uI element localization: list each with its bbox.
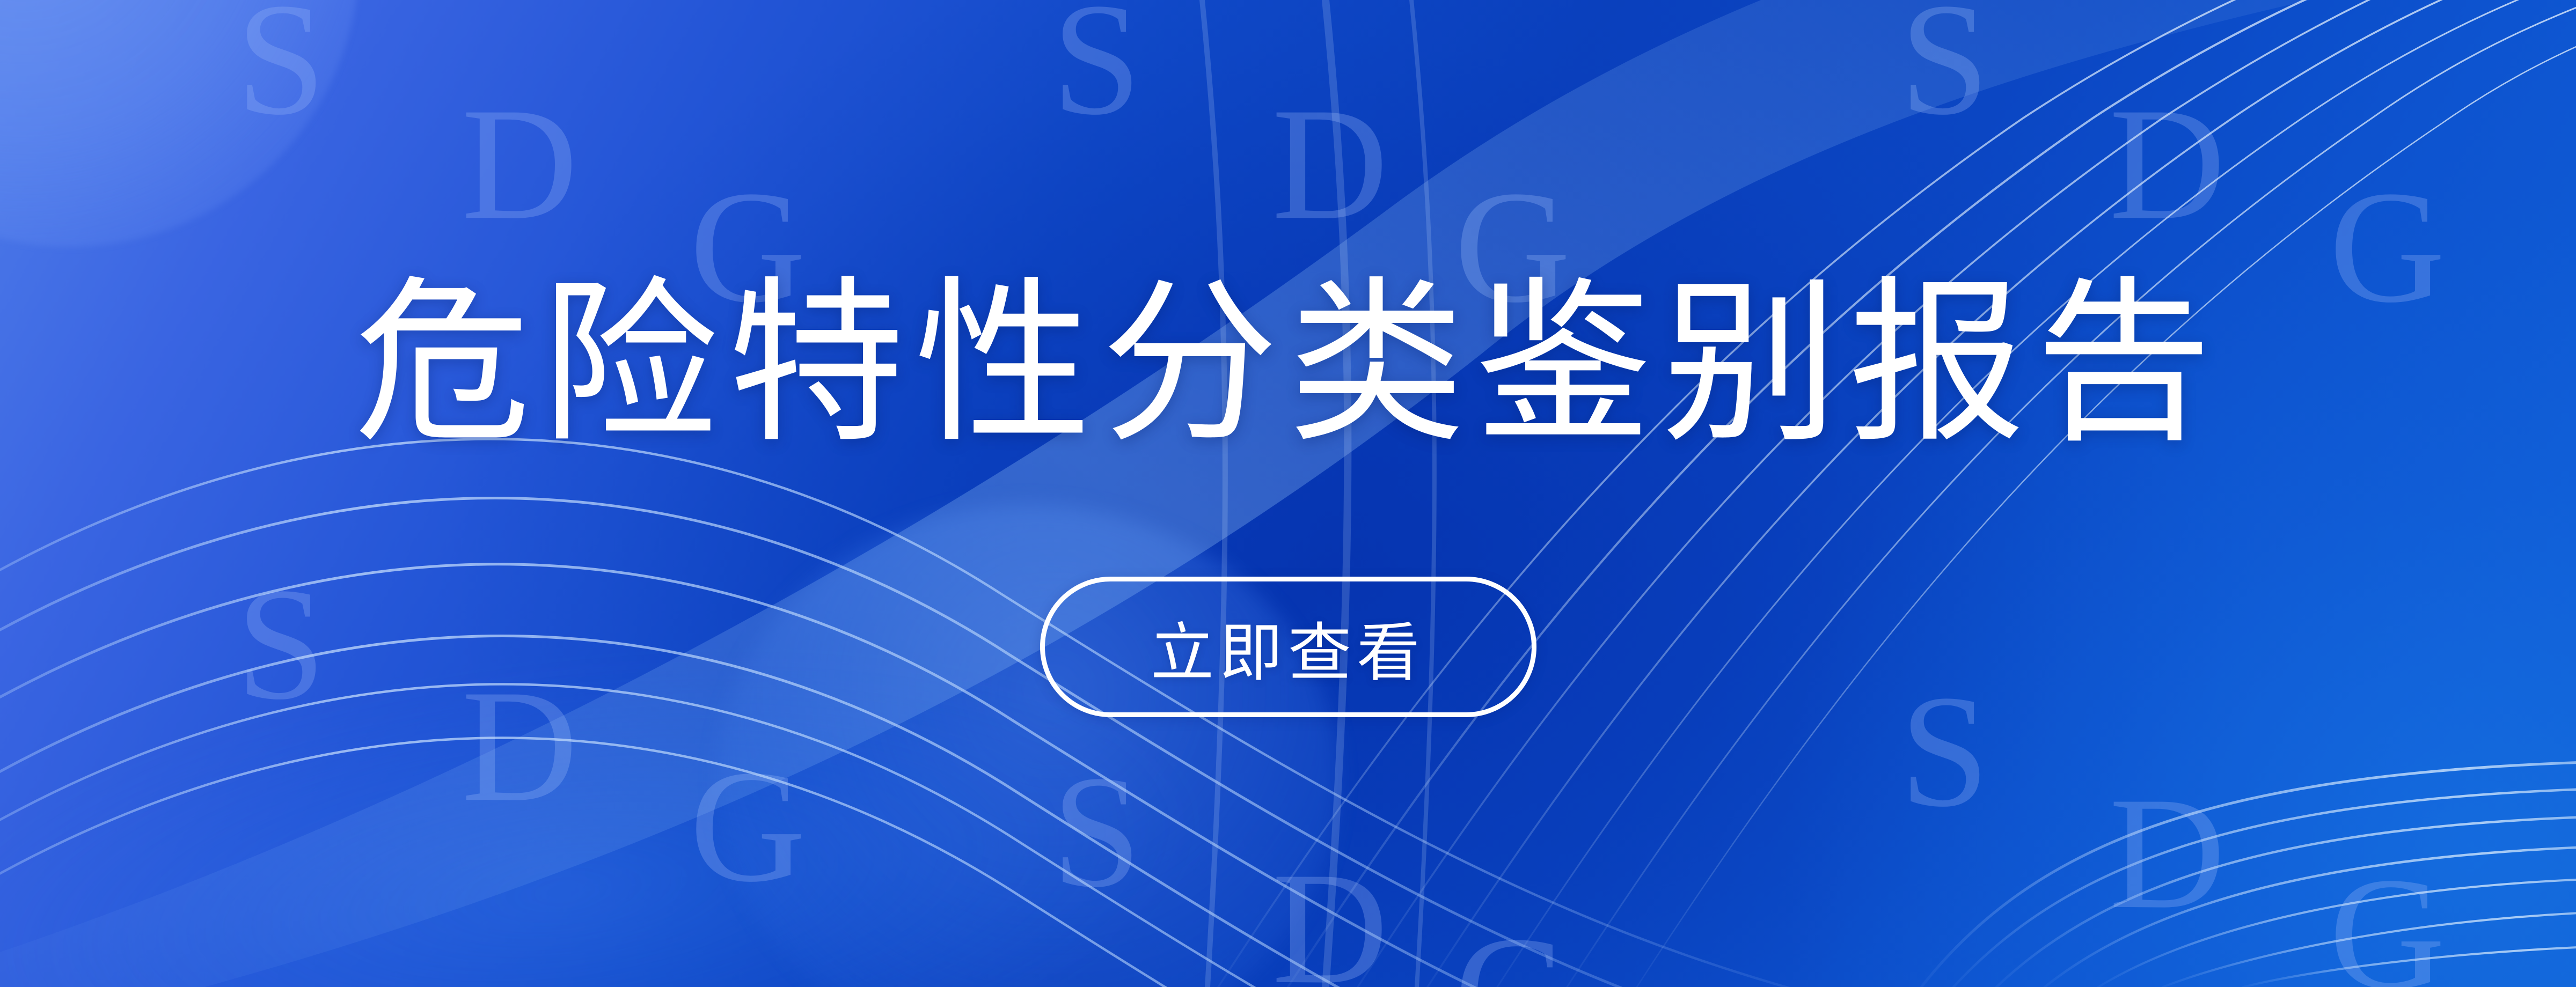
cta-container: 立即查看 (0, 577, 2576, 717)
view-now-button[interactable]: 立即查看 (1040, 577, 1536, 717)
promo-banner: SDGSDGSDGSDGSDGSDG (0, 0, 2576, 987)
page-title: 危险特性分类鉴别报告 (0, 268, 2576, 459)
banner-content: 危险特性分类鉴别报告 立即查看 (0, 0, 2576, 987)
